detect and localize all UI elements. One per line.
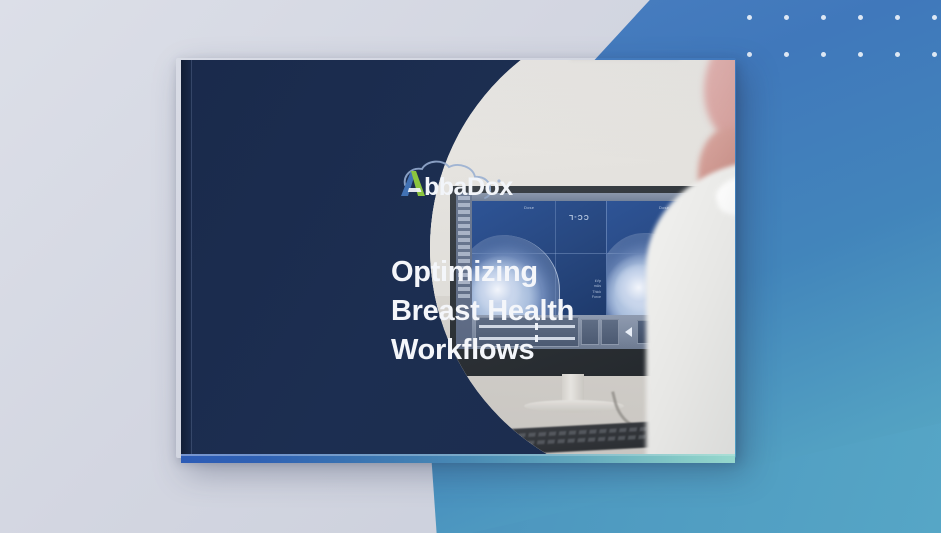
svg-text:bbaDox: bbaDox [424, 173, 513, 201]
grid-dot [821, 52, 826, 57]
book-page-edge-highlight [181, 454, 735, 456]
sidebar-tool [458, 224, 470, 228]
grid-dot [784, 52, 789, 57]
cover-spine-line [191, 60, 192, 454]
abbadox-cloud-logo: bbaDox [387, 158, 513, 202]
pane-corner-label-left: Dose [524, 205, 534, 210]
cover-title: Optimizing Breast Health Workflows [391, 253, 641, 370]
dot-grid-decoration [747, 15, 941, 75]
grid-dot [858, 15, 863, 20]
sidebar-tool [458, 238, 470, 242]
title-line-2: Breast Health [391, 292, 641, 331]
title-line-1: Optimizing [391, 253, 641, 292]
ebook-cover[interactable]: Dose CC-L kVp mAs Thick Force [181, 60, 735, 454]
ebook-cover-mockup-canvas: Dose CC-L kVp mAs Thick Force [0, 0, 941, 533]
radiologist-figure [638, 60, 735, 454]
sidebar-tool [458, 210, 470, 214]
grid-dot [895, 52, 900, 57]
grid-dot [932, 52, 937, 57]
pane-view-label-left: CC-L [568, 213, 589, 220]
sidebar-tool [458, 217, 470, 221]
sidebar-tool [458, 245, 470, 249]
sidebar-tool [458, 231, 470, 235]
title-line-3: Workflows [391, 331, 641, 370]
monitor-stand-base [524, 400, 624, 412]
grid-dot [821, 15, 826, 20]
grid-dot [747, 15, 752, 20]
grid-dot [932, 15, 937, 20]
grid-dot [895, 15, 900, 20]
grid-dot [784, 15, 789, 20]
sidebar-tool [458, 203, 470, 207]
grid-dot [858, 52, 863, 57]
abbadox-logo-svg: bbaDox [387, 158, 513, 202]
grid-dot [747, 52, 752, 57]
